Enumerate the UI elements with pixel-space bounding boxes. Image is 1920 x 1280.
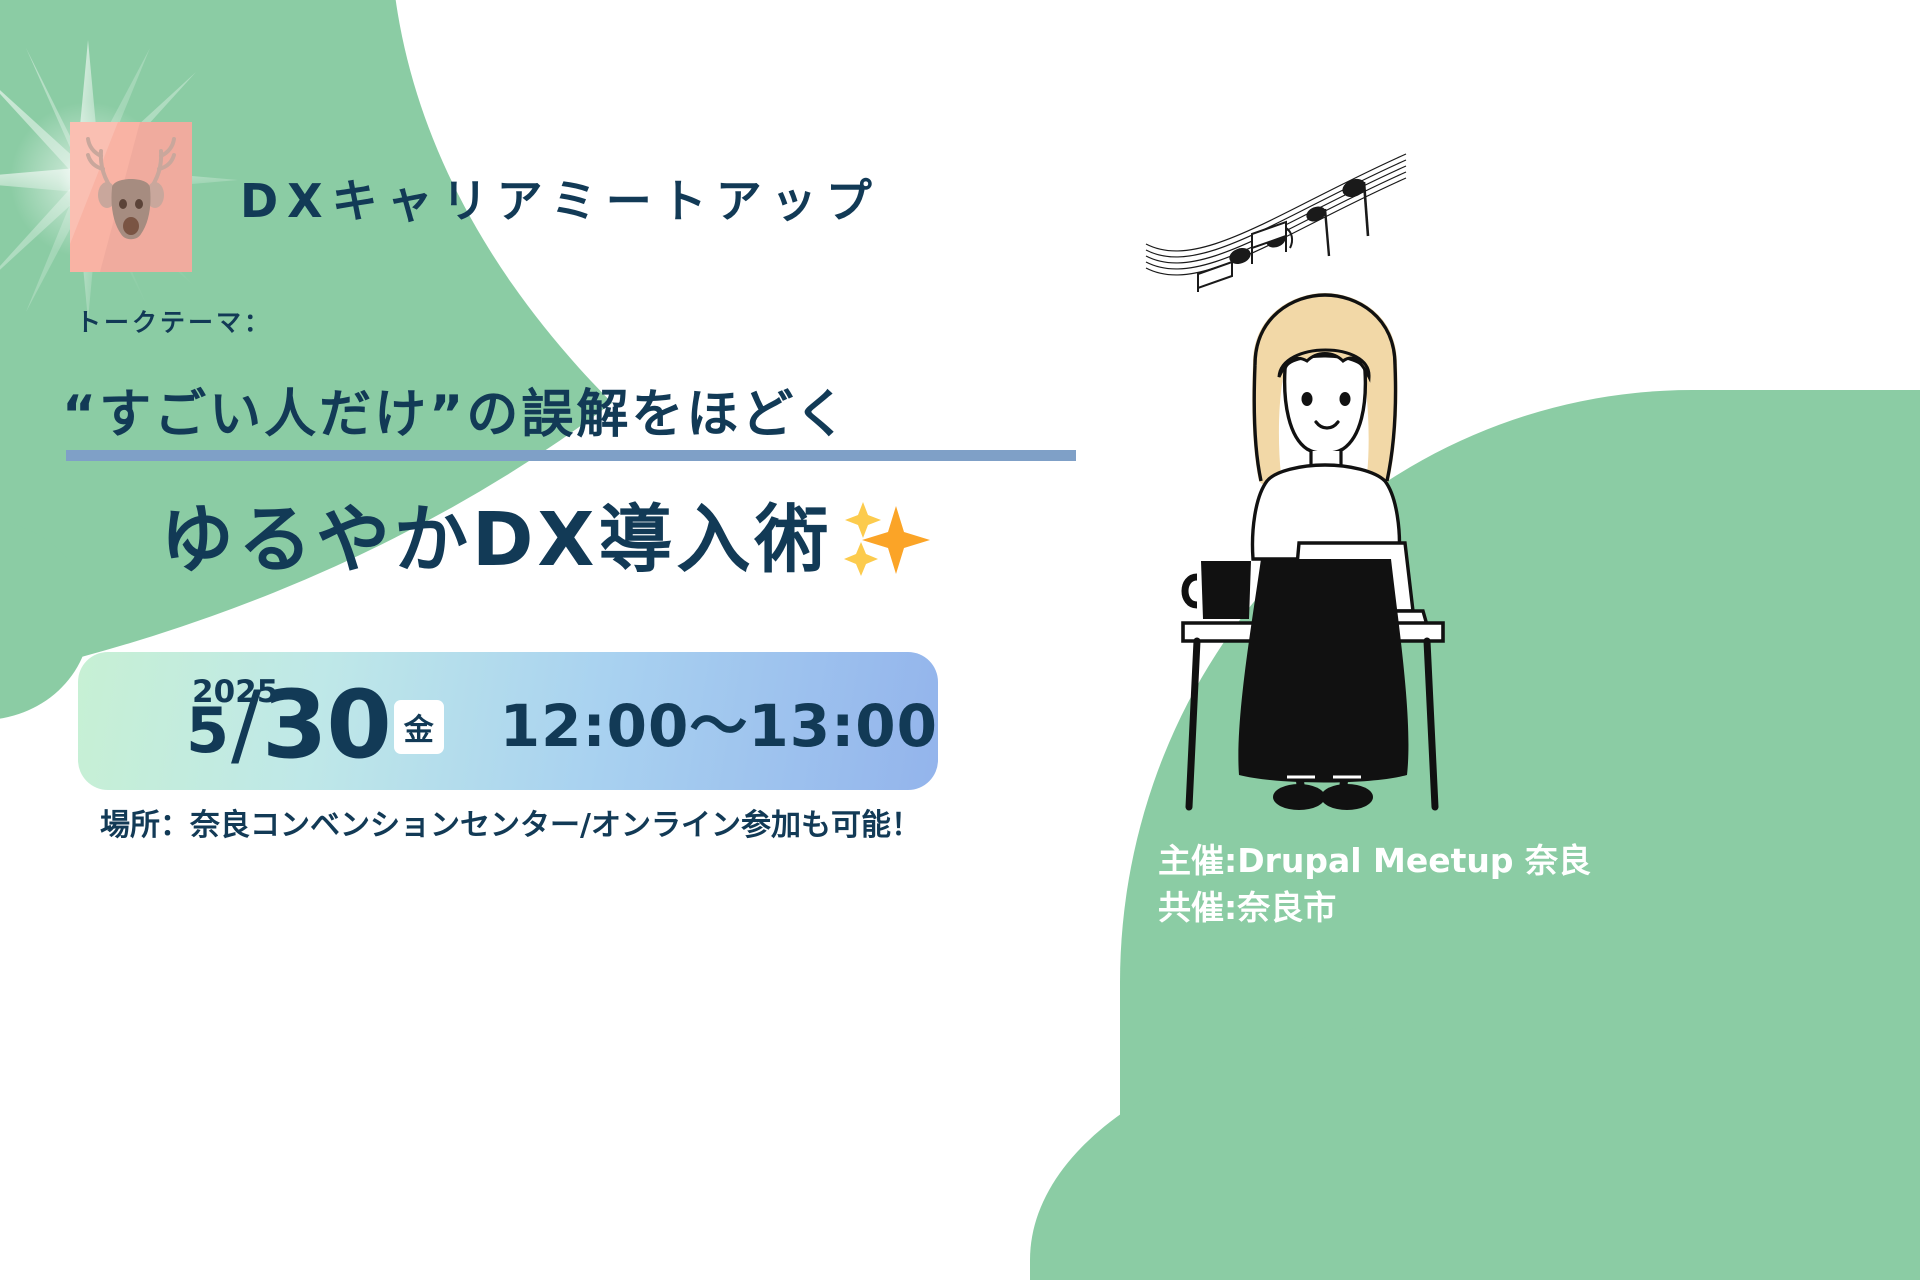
deer-head-logo-icon — [70, 122, 192, 272]
organizer-cohost: 共催:奈良市 — [1158, 885, 1591, 932]
date-month: 5 — [186, 700, 229, 762]
event-time: 12:00〜13:00 — [500, 679, 938, 763]
date-block: 2025 / 5 30 — [134, 652, 386, 790]
organizer-host: 主催:Drupal Meetup 奈良 — [1158, 838, 1591, 885]
sparkles-emoji-icon — [836, 488, 936, 580]
organizer-block: 主催:Drupal Meetup 奈良 共催:奈良市 — [1158, 838, 1591, 932]
date-slash: / — [231, 680, 261, 770]
weekday-chip: 金 — [394, 700, 444, 754]
headline-row: ゆるやかDX導入術 — [160, 480, 936, 587]
music-notes-staff-icon — [1140, 132, 1410, 292]
main-headline: ゆるやかDX導入術 — [160, 480, 832, 587]
date-time-badge: 2025 / 5 30 金 12:00〜13:00 — [78, 652, 938, 790]
event-poster: DXキャリアミートアップ トークテーマ： “すごい人だけ”の誤解をほどく ゆるや… — [0, 0, 1920, 1280]
talk-theme-text: “すごい人だけ”の誤解をほどく — [62, 372, 850, 447]
page-title: DXキャリアミートアップ — [240, 165, 881, 231]
divider — [66, 450, 1076, 461]
date-day: 30 — [262, 679, 391, 773]
person-at-desk-with-laptop-icon — [1175, 285, 1465, 815]
venue-text: 場所：奈良コンベンションセンター/オンライン参加も可能！ — [100, 800, 921, 844]
talk-theme-label: トークテーマ： — [76, 303, 272, 339]
